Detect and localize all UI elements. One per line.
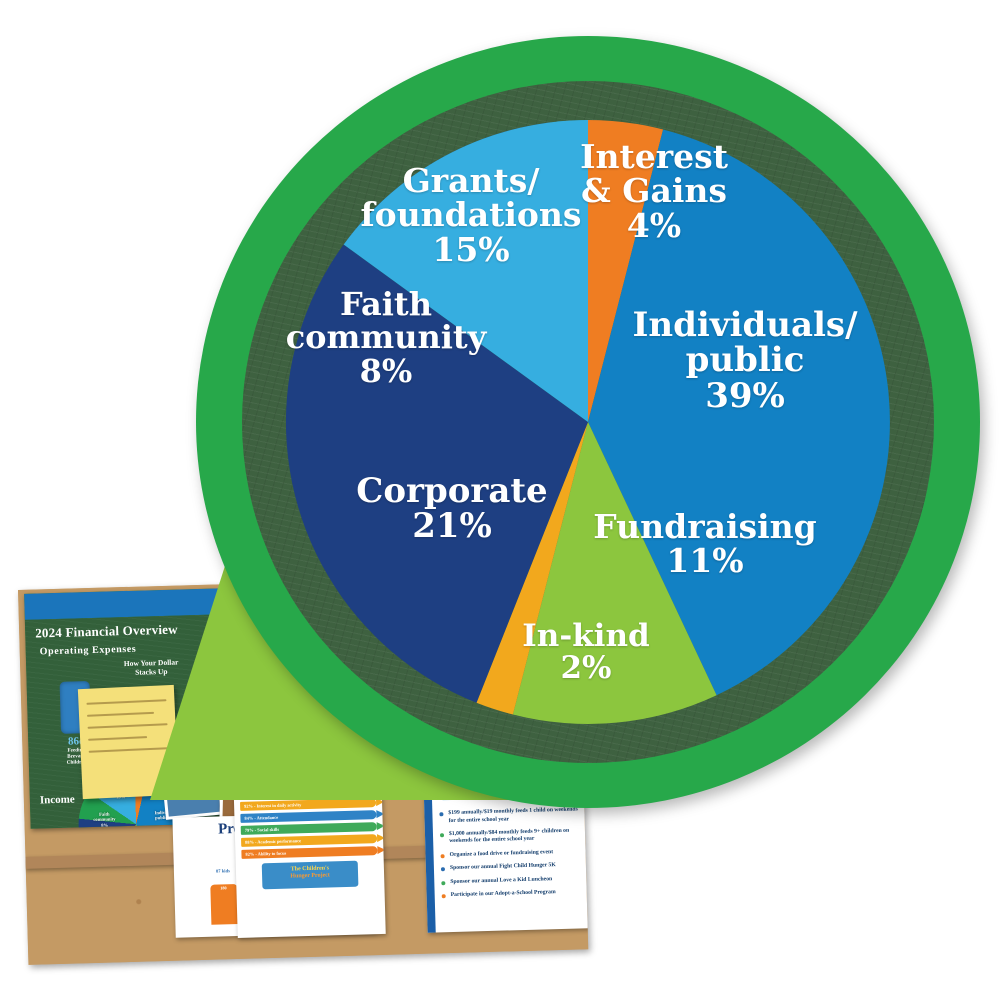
- pie-slices-container: [282, 120, 894, 724]
- pie-svg: [282, 120, 894, 724]
- income-pie-chart: Interest & Gains 4% Individuals/ public …: [196, 36, 980, 808]
- infographic-canvas: 2024 Financial Overview Operating Expens…: [0, 0, 1000, 1000]
